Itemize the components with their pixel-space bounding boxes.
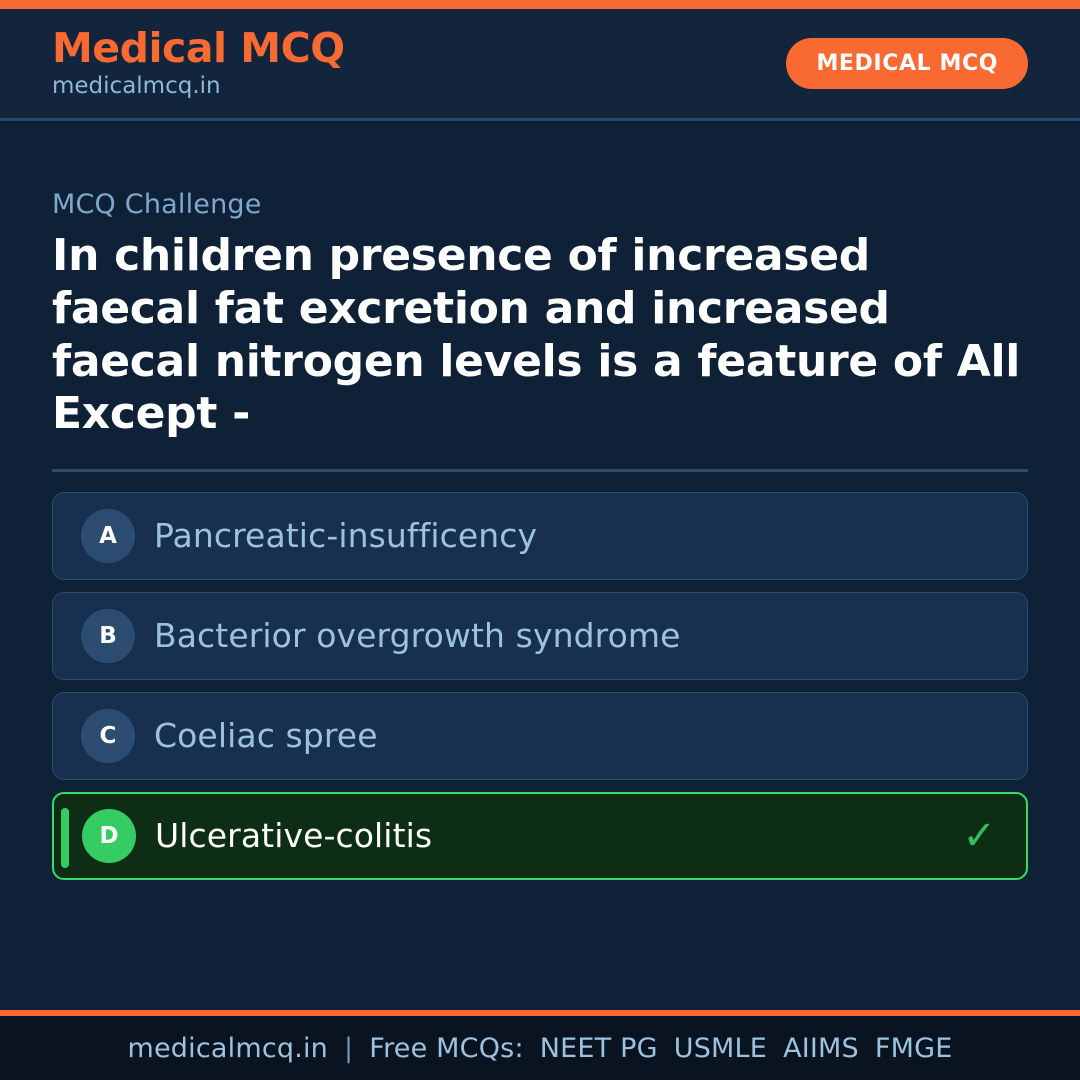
footer-tag-neetpg: NEET PG	[540, 1033, 658, 1064]
correct-accent-bar	[61, 808, 69, 868]
footer-separator: |	[344, 1033, 353, 1064]
eyebrow-label: MCQ Challenge	[52, 189, 1028, 220]
option-letter-badge: B	[81, 609, 135, 663]
header-badge: MEDICAL MCQ	[786, 38, 1028, 89]
brand-subtitle: medicalmcq.in	[52, 72, 345, 101]
option-row-c[interactable]: C Coeliac spree	[52, 692, 1028, 780]
footer-prefix: Free MCQs:	[369, 1033, 523, 1064]
main-content: MCQ Challenge In children presence of in…	[0, 121, 1080, 1010]
option-letter-badge: D	[82, 809, 136, 863]
option-label: Ulcerative-colitis	[155, 816, 432, 856]
option-label: Bacterior overgrowth syndrome	[154, 616, 681, 656]
option-label: Pancreatic-insufficency	[154, 516, 537, 556]
check-icon: ✓	[962, 816, 996, 856]
footer-tags: NEET PG USMLE AIIMS FMGE	[540, 1033, 953, 1064]
footer-tag-aiims: AIIMS	[783, 1033, 859, 1064]
option-row-d[interactable]: D Ulcerative-colitis ✓	[52, 792, 1028, 880]
mcq-card: Medical MCQ medicalmcq.in MEDICAL MCQ MC…	[0, 0, 1080, 1080]
footer-site: medicalmcq.in	[127, 1033, 328, 1064]
option-letter-badge: C	[81, 709, 135, 763]
section-divider	[52, 469, 1028, 472]
option-row-b[interactable]: B Bacterior overgrowth syndrome	[52, 592, 1028, 680]
page-footer: medicalmcq.in | Free MCQs: NEET PG USMLE…	[0, 1016, 1080, 1080]
option-letter-badge: A	[81, 509, 135, 563]
question-text: In children presence of increased faecal…	[52, 230, 1028, 441]
option-row-a[interactable]: A Pancreatic-insufficency	[52, 492, 1028, 580]
page-header: Medical MCQ medicalmcq.in MEDICAL MCQ	[0, 9, 1080, 121]
footer-tag-fmge: FMGE	[875, 1033, 953, 1064]
option-label: Coeliac spree	[154, 716, 378, 756]
options-list: A Pancreatic-insufficency B Bacterior ov…	[52, 492, 1028, 880]
brand-title: Medical MCQ	[52, 26, 345, 70]
brand-block: Medical MCQ medicalmcq.in	[52, 26, 345, 101]
footer-content: medicalmcq.in | Free MCQs: NEET PG USMLE…	[127, 1033, 952, 1064]
footer-tag-usmle: USMLE	[674, 1033, 767, 1064]
top-accent-rule	[0, 0, 1080, 9]
